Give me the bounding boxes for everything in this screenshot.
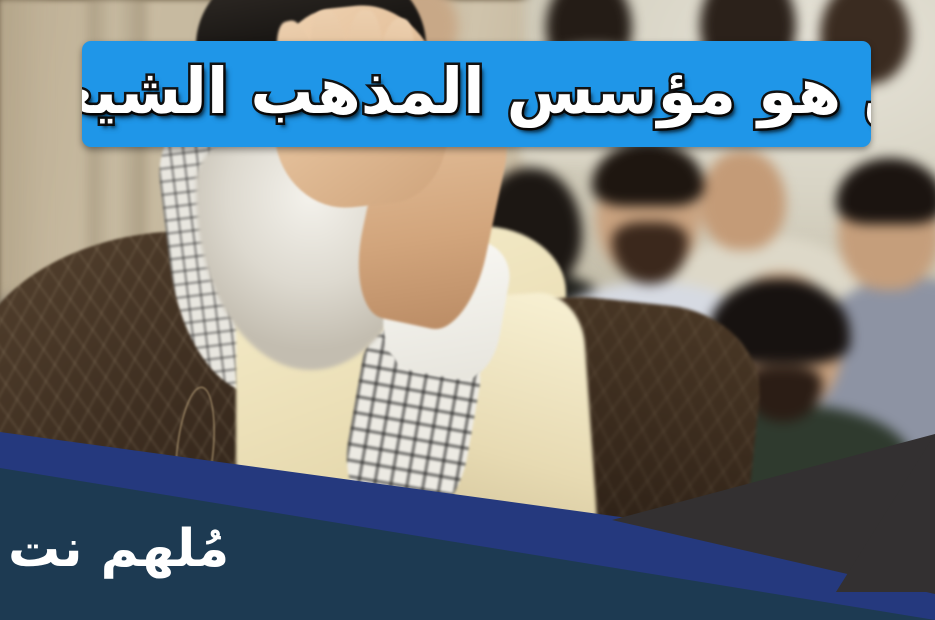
headline-text: من هو مؤسس المذهب الشيعي — [82, 60, 871, 129]
headline-banner: من هو مؤسس المذهب الشيعي — [82, 41, 871, 147]
thumbnail-canvas: من هو مؤسس المذهب الشيعي مُلهم نت — [0, 0, 935, 620]
site-watermark: مُلهم نت — [8, 522, 229, 577]
